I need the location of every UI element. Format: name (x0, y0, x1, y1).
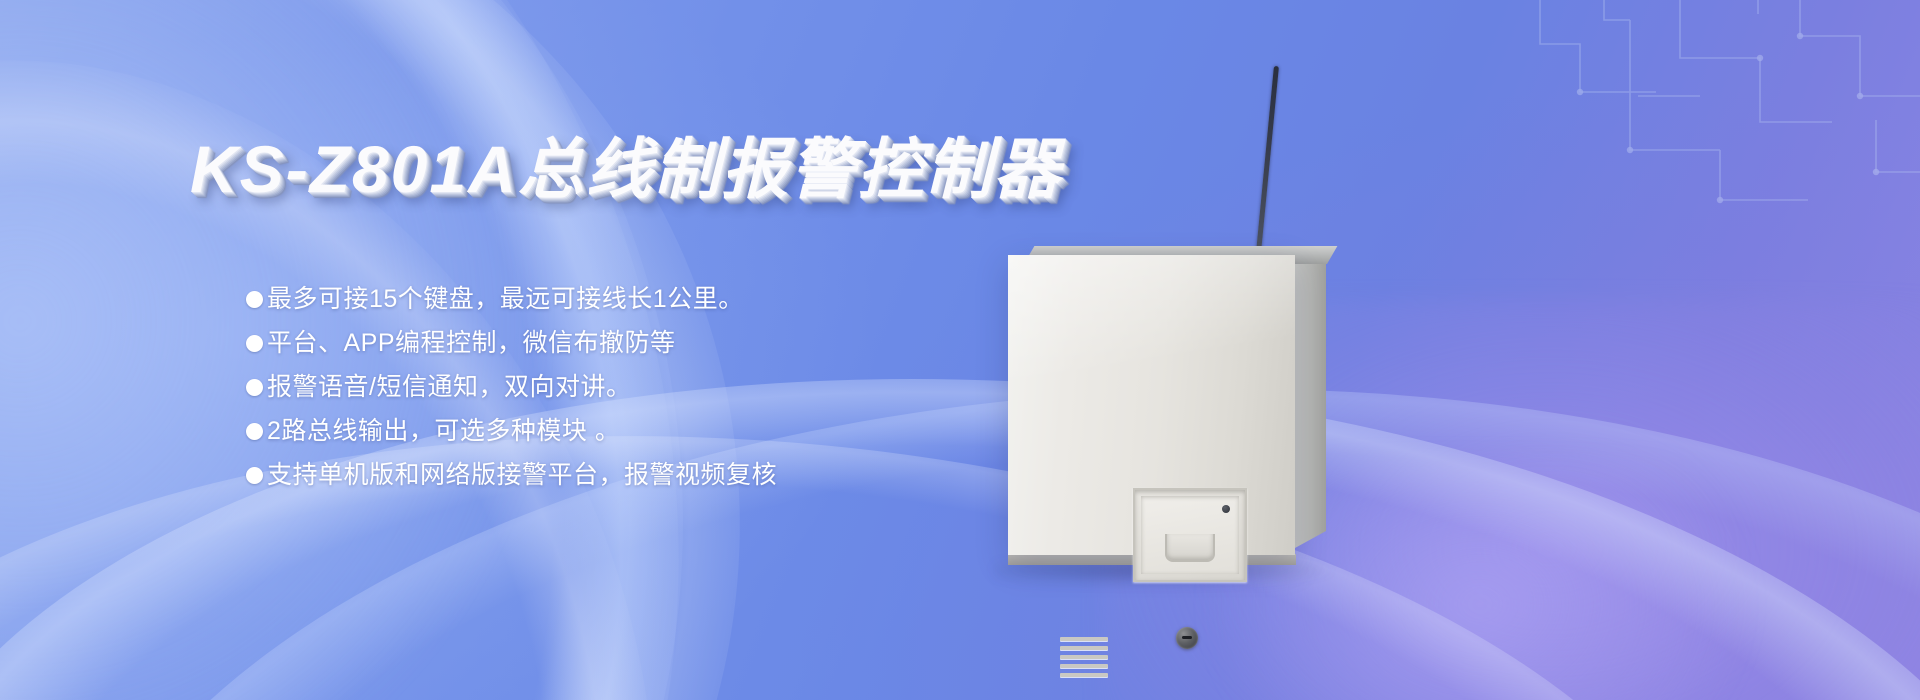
feature-text: 支持单机版和网络版接警平台，报警视频复核 (267, 458, 777, 492)
bullet-dot-icon (246, 335, 263, 352)
feature-item: 报警语音/短信通知，双向对讲。 (246, 370, 777, 404)
key-lock-icon (1176, 627, 1198, 649)
feature-item: 最多可接15个键盘，最远可接线长1公里。 (246, 282, 777, 316)
feature-item: 平台、APP编程控制，微信布撤防等 (246, 326, 777, 360)
lock-keyhole (1182, 636, 1192, 639)
enclosure-side (1295, 264, 1326, 548)
status-led-icon (1222, 505, 1230, 513)
keypad-window-frame (1133, 488, 1247, 582)
vent-slot (1060, 646, 1108, 650)
vent-slot (1060, 664, 1108, 668)
vent-slot (1060, 637, 1108, 641)
bullet-dot-icon (246, 291, 263, 308)
product-banner: KS-Z801A总线制报警控制器 最多可接15个键盘，最远可接线长1公里。 平台… (0, 0, 1920, 700)
ventilation-slots (1060, 637, 1108, 677)
feature-text: 最多可接15个键盘，最远可接线长1公里。 (267, 282, 744, 316)
vent-slot (1060, 673, 1108, 677)
product-image (985, 60, 1385, 600)
bullet-dot-icon (246, 423, 263, 440)
feature-list: 最多可接15个键盘，最远可接线长1公里。 平台、APP编程控制，微信布撤防等 报… (246, 282, 777, 492)
bullet-dot-icon (246, 379, 263, 396)
feature-text: 报警语音/短信通知，双向对讲。 (267, 370, 631, 404)
enclosure-front-door (1008, 255, 1295, 555)
feature-text: 2路总线输出，可选多种模块 。 (267, 414, 620, 448)
feature-item: 2路总线输出，可选多种模块 。 (246, 414, 777, 448)
feature-item: 支持单机版和网络版接警平台，报警视频复核 (246, 458, 777, 492)
door-handle (1165, 534, 1215, 562)
bullet-dot-icon (246, 467, 263, 484)
feature-text: 平台、APP编程控制，微信布撤防等 (267, 326, 676, 360)
keypad-window-inner (1141, 496, 1239, 574)
vent-slot (1060, 655, 1108, 659)
banner-title: KS-Z801A总线制报警控制器 (190, 116, 1062, 212)
